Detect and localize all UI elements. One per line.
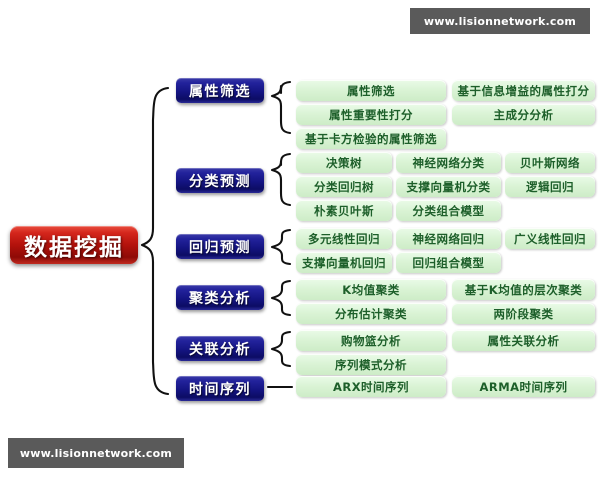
leaf-label: 神经网络回归: [413, 231, 485, 247]
brace-category-2: [272, 154, 290, 205]
leaf-node[interactable]: 两阶段聚类: [452, 303, 595, 324]
leaf-label: 两阶段聚类: [494, 306, 554, 322]
leaf-label: 基于信息增益的属性打分: [458, 83, 590, 99]
category-label: 属性筛选: [189, 81, 251, 101]
leaf-node[interactable]: 分类回归树: [296, 176, 392, 197]
category-label: 时间序列: [189, 379, 251, 399]
diagram-canvas: 数据挖掘 属性筛选 分类预测 回归预测 聚类分析 关联分析 时间序列 属性筛选 …: [0, 0, 600, 480]
leaf-node[interactable]: ARX时间序列: [296, 376, 446, 397]
leaf-node[interactable]: 支撑向量机回归: [296, 252, 392, 273]
leaf-node[interactable]: 神经网络分类: [396, 152, 501, 173]
category-node-association[interactable]: 关联分析: [176, 336, 264, 361]
leaf-label: 广义线性回归: [514, 231, 586, 247]
leaf-node[interactable]: 主成分分析: [452, 104, 595, 125]
leaf-label: K均值聚类: [342, 282, 399, 298]
category-node-time-series[interactable]: 时间序列: [176, 376, 264, 401]
brace-category-3: [272, 230, 290, 264]
watermark-top-text: www.lisionnetwork.com: [424, 15, 576, 28]
category-label: 回归预测: [189, 237, 251, 257]
leaf-node[interactable]: 逻辑回归: [505, 176, 595, 197]
leaf-node[interactable]: 分布估计聚类: [296, 303, 446, 324]
leaf-label: 购物篮分析: [341, 333, 401, 349]
leaf-label: 属性关联分析: [488, 333, 560, 349]
watermark-top: www.lisionnetwork.com: [410, 8, 590, 34]
leaf-label: 支撑向量机分类: [407, 179, 491, 195]
root-brace: [142, 88, 168, 394]
leaf-node[interactable]: 基于卡方检验的属性筛选: [296, 128, 446, 149]
leaf-node[interactable]: 朴素贝叶斯: [296, 200, 392, 221]
leaf-node[interactable]: 基于K均值的层次聚类: [452, 279, 595, 300]
leaf-label: 贝叶斯网络: [520, 155, 580, 171]
brace-category-4: [272, 281, 290, 315]
leaf-node[interactable]: 回归组合模型: [396, 252, 501, 273]
leaf-node[interactable]: 属性筛选: [296, 80, 446, 101]
category-node-clustering[interactable]: 聚类分析: [176, 285, 264, 310]
leaf-node[interactable]: 贝叶斯网络: [505, 152, 595, 173]
watermark-bottom-text: www.lisionnetwork.com: [20, 447, 172, 460]
leaf-node[interactable]: 神经网络回归: [396, 228, 501, 249]
leaf-label: 主成分分析: [494, 107, 554, 123]
leaf-node[interactable]: K均值聚类: [296, 279, 446, 300]
brace-category-5: [272, 332, 290, 366]
category-label: 关联分析: [189, 339, 251, 359]
category-node-regression[interactable]: 回归预测: [176, 234, 264, 259]
leaf-label: 回归组合模型: [413, 255, 485, 271]
leaf-node[interactable]: 决策树: [296, 152, 392, 173]
leaf-label: 序列模式分析: [335, 357, 407, 373]
leaf-node[interactable]: 序列模式分析: [296, 354, 446, 375]
category-label: 聚类分析: [189, 288, 251, 308]
leaf-label: 属性筛选: [347, 83, 395, 99]
leaf-node[interactable]: ARMA时间序列: [452, 376, 595, 397]
leaf-label: ARMA时间序列: [479, 379, 567, 395]
root-node[interactable]: 数据挖掘: [10, 226, 138, 264]
leaf-label: 神经网络分类: [413, 155, 485, 171]
leaf-node[interactable]: 基于信息增益的属性打分: [452, 80, 595, 101]
leaf-label: 基于K均值的层次聚类: [465, 282, 582, 298]
leaf-node[interactable]: 属性关联分析: [452, 330, 595, 351]
leaf-label: 决策树: [326, 155, 362, 171]
category-label: 分类预测: [189, 171, 251, 191]
leaf-label: 分类组合模型: [413, 203, 485, 219]
leaf-label: ARX时间序列: [333, 379, 409, 395]
root-node-label: 数据挖掘: [24, 228, 124, 262]
leaf-node[interactable]: 支撑向量机分类: [396, 176, 501, 197]
leaf-node[interactable]: 购物篮分析: [296, 330, 446, 351]
leaf-label: 基于卡方检验的属性筛选: [305, 131, 437, 147]
leaf-label: 朴素贝叶斯: [314, 203, 374, 219]
leaf-node[interactable]: 分类组合模型: [396, 200, 501, 221]
brace-category-1: [272, 82, 290, 133]
leaf-node[interactable]: 属性重要性打分: [296, 104, 446, 125]
leaf-label: 多元线性回归: [308, 231, 380, 247]
leaf-node[interactable]: 广义线性回归: [505, 228, 595, 249]
leaf-label: 分布估计聚类: [335, 306, 407, 322]
leaf-label: 属性重要性打分: [329, 107, 413, 123]
leaf-node[interactable]: 多元线性回归: [296, 228, 392, 249]
watermark-bottom: www.lisionnetwork.com: [8, 438, 184, 468]
leaf-label: 逻辑回归: [526, 179, 574, 195]
category-node-attribute-selection[interactable]: 属性筛选: [176, 78, 264, 103]
leaf-label: 分类回归树: [314, 179, 374, 195]
category-node-classification[interactable]: 分类预测: [176, 168, 264, 193]
leaf-label: 支撑向量机回归: [302, 255, 386, 271]
